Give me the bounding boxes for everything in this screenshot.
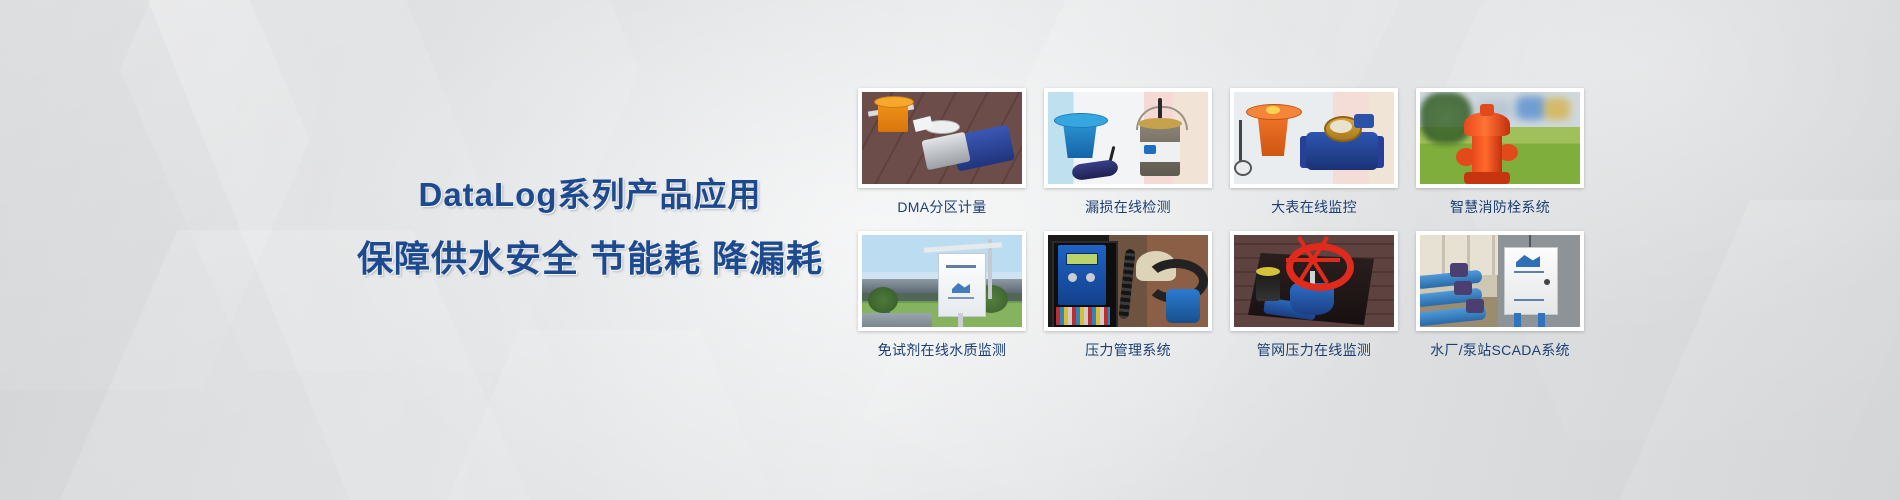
product-application-banner: DataLog系列产品应用 保障供水安全 节能耗 降漏耗 DMA分区计量 bbox=[0, 0, 1900, 500]
product-thumbnail[interactable] bbox=[1230, 88, 1398, 188]
product-caption: 大表在线监控 bbox=[1230, 197, 1398, 217]
product-card-leak-detection[interactable]: 漏损在线检测 bbox=[1044, 88, 1212, 217]
product-card-smart-hydrant[interactable]: 智慧消防栓系统 bbox=[1416, 88, 1584, 217]
product-thumbnail[interactable] bbox=[1044, 88, 1212, 188]
dma-metering-photo bbox=[862, 92, 1022, 184]
product-thumbnail[interactable] bbox=[858, 231, 1026, 331]
smart-hydrant-photo bbox=[1420, 92, 1580, 184]
product-thumbnail[interactable] bbox=[1044, 231, 1212, 331]
product-caption: 水厂/泵站SCADA系统 bbox=[1416, 340, 1584, 360]
product-caption: 智慧消防栓系统 bbox=[1416, 197, 1584, 217]
product-card-pressure-management[interactable]: 压力管理系统 bbox=[1044, 231, 1212, 360]
pressure-management-photo bbox=[1048, 235, 1208, 327]
banner-headline: DataLog系列产品应用 保障供水安全 节能耗 降漏耗 bbox=[330, 178, 850, 278]
product-caption: 压力管理系统 bbox=[1044, 340, 1212, 360]
product-card-dma-metering[interactable]: DMA分区计量 bbox=[858, 88, 1026, 217]
large-meter-monitoring-photo bbox=[1234, 92, 1394, 184]
product-thumbnail[interactable] bbox=[1416, 231, 1584, 331]
product-caption: DMA分区计量 bbox=[858, 197, 1026, 217]
product-thumbnail[interactable] bbox=[858, 88, 1026, 188]
product-caption: 漏损在线检测 bbox=[1044, 197, 1212, 217]
water-quality-station-photo bbox=[862, 235, 1022, 327]
product-card-pipeline-pressure[interactable]: 管网压力在线监测 bbox=[1230, 231, 1398, 360]
headline-line-1: DataLog系列产品应用 bbox=[330, 178, 850, 212]
leak-detection-photo bbox=[1048, 92, 1208, 184]
scada-pump-station-photo bbox=[1420, 235, 1580, 327]
product-thumbnail[interactable] bbox=[1416, 88, 1584, 188]
product-thumbnail[interactable] bbox=[1230, 231, 1398, 331]
hexagon-shape bbox=[430, 330, 790, 500]
product-caption: 免试剂在线水质监测 bbox=[858, 340, 1026, 360]
product-card-water-quality[interactable]: 免试剂在线水质监测 bbox=[858, 231, 1026, 360]
product-card-large-meter[interactable]: 大表在线监控 bbox=[1230, 88, 1398, 217]
product-grid: DMA分区计量 漏损在线检测 bbox=[858, 88, 1584, 360]
pipeline-pressure-photo bbox=[1234, 235, 1394, 327]
hexagon-shape bbox=[0, 0, 310, 390]
product-card-scada[interactable]: 水厂/泵站SCADA系统 bbox=[1416, 231, 1584, 360]
hexagon-shape bbox=[1620, 200, 1900, 500]
headline-line-2: 保障供水安全 节能耗 降漏耗 bbox=[330, 240, 850, 278]
product-caption: 管网压力在线监测 bbox=[1230, 340, 1398, 360]
